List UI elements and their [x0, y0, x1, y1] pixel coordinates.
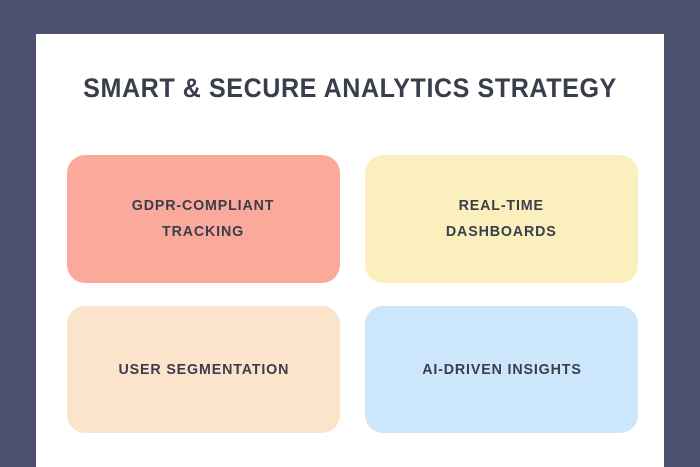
page-title: SMART & SECURE ANALYTICS STRATEGY: [58, 72, 642, 104]
card-label-real-time-dashboards: REAL-TIME DASHBOARDS: [446, 193, 557, 245]
card-gdpr-compliant-tracking[interactable]: GDPR-COMPLIANT TRACKING: [67, 155, 340, 283]
card-label-ai-driven-insights: AI-DRIVEN INSIGHTS: [422, 357, 581, 383]
card-grid: GDPR-COMPLIANT TRACKING REAL-TIME DASHBO…: [67, 155, 638, 433]
slide-canvas: SMART & SECURE ANALYTICS STRATEGY GDPR-C…: [0, 0, 700, 467]
card-label-user-segmentation: USER SEGMENTATION: [118, 357, 289, 383]
card-ai-driven-insights[interactable]: AI-DRIVEN INSIGHTS: [365, 306, 638, 433]
card-user-segmentation[interactable]: USER SEGMENTATION: [67, 306, 340, 433]
card-label-gdpr-compliant-tracking: GDPR-COMPLIANT TRACKING: [132, 193, 275, 245]
card-real-time-dashboards[interactable]: REAL-TIME DASHBOARDS: [365, 155, 638, 283]
slide-panel: SMART & SECURE ANALYTICS STRATEGY GDPR-C…: [36, 34, 664, 467]
